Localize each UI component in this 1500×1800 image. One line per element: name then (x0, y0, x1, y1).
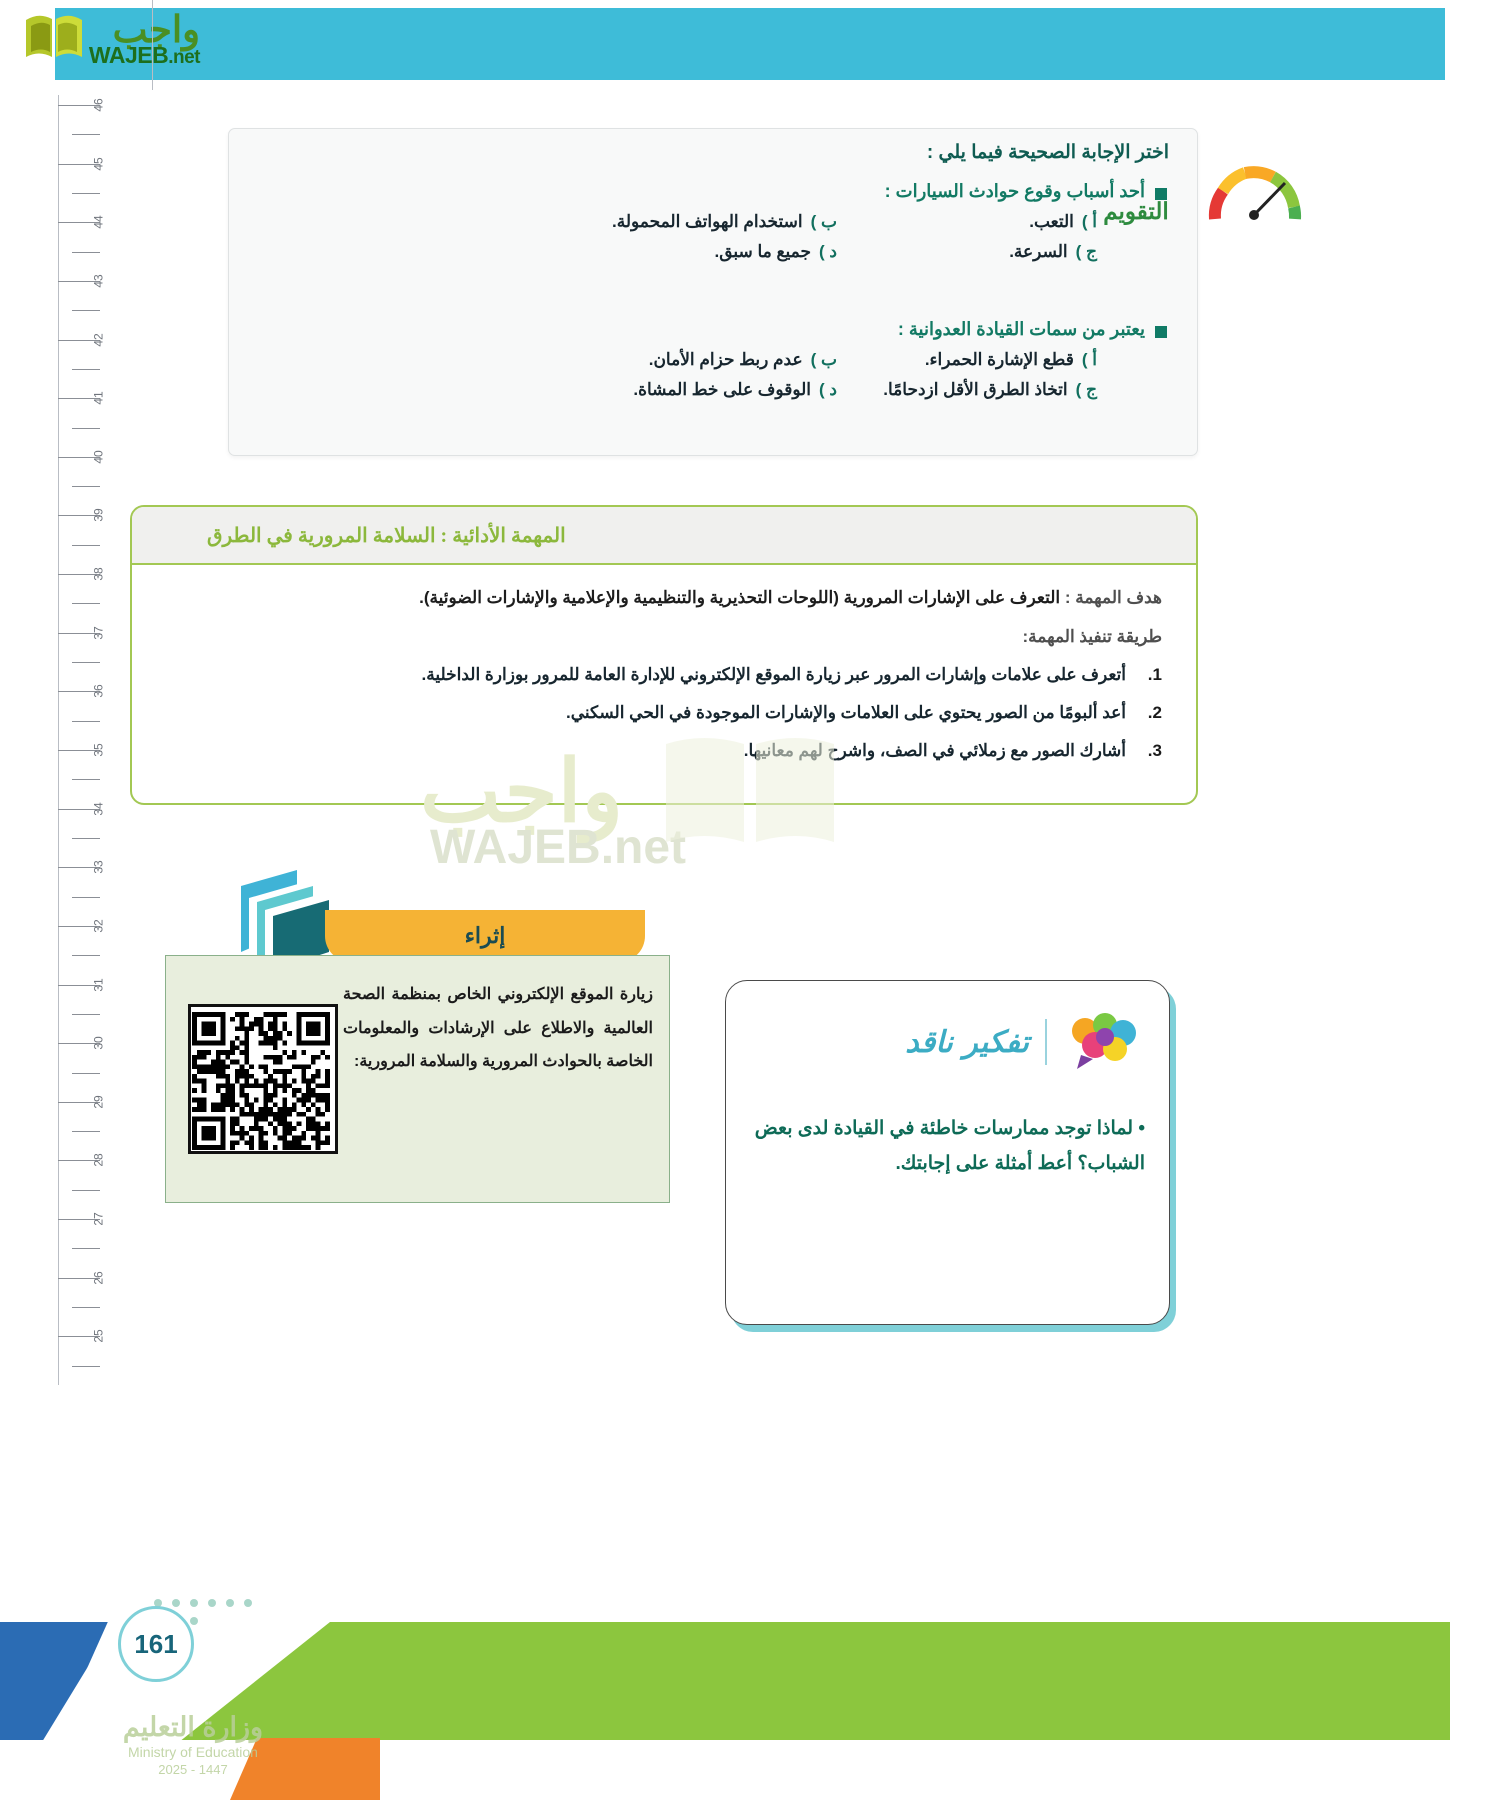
ruler-tick-minor (72, 428, 100, 429)
page-footer: 161 وزارة التعليم Ministry of Education … (0, 1550, 1500, 1800)
ministry-name-arabic: وزارة التعليم (78, 1711, 308, 1745)
ruler-tick-minor (72, 1190, 100, 1191)
option-c-key: ج ) (1076, 380, 1097, 400)
option-a-key: أ ) (1082, 212, 1097, 232)
ruler-tick-label: 36 (92, 685, 106, 698)
ruler-tick-minor (72, 545, 100, 546)
square-bullet-icon (1155, 188, 1167, 200)
ruler-top-guide (152, 0, 153, 90)
ruler-tick-label: 42 (92, 333, 106, 346)
option-b[interactable]: ب ) استخدام الهواتف المحمولة. (357, 212, 837, 232)
question-1: أحد أسباب وقوع حوادث السيارات : أ ) التع… (267, 181, 1167, 262)
ruler-tick-minor (72, 1014, 100, 1015)
ruler-tick-label: 45 (92, 157, 106, 170)
task-goal-line: هدف المهمة : التعرف على الإشارات المروري… (166, 587, 1162, 610)
ruler-tick-label: 27 (92, 1212, 106, 1225)
step-text: أعد ألبومًا من الصور يحتوي على العلامات … (566, 703, 1126, 723)
step-number: 2. (1140, 703, 1162, 723)
option-a-text: قطع الإشارة الحمراء. (925, 350, 1074, 370)
divider (1045, 1019, 1047, 1065)
option-b-key: ب ) (811, 350, 837, 370)
enrichment-tab-label: إثراء (465, 923, 506, 949)
critical-thinking-question: • لماذا توجد ممارسات خاطئة في القيادة لد… (753, 1111, 1145, 1181)
ruler-tick-label: 29 (92, 1095, 106, 1108)
option-c-text: اتخاذ الطرق الأقل ازدحامًا. (883, 380, 1067, 400)
ruler-tick-minor (72, 897, 100, 898)
step-number: 3. (1140, 741, 1162, 761)
option-c[interactable]: ج ) السرعة. (837, 242, 1167, 262)
ruler-tick-label: 26 (92, 1271, 106, 1284)
ruler-tick-minor (72, 369, 100, 370)
ruler-tick-label: 37 (92, 626, 106, 639)
option-b-text: عدم ربط حزام الأمان. (649, 350, 803, 370)
qr-code-icon[interactable] (188, 1004, 338, 1154)
ruler-tick-minor (72, 721, 100, 722)
question-2-stem-row: يعتبر من سمات القيادة العدوانية : (267, 319, 1167, 340)
performance-task-header: المهمة الأدائية : السلامة المرورية في ال… (132, 507, 1196, 565)
ruler-tick-minor (72, 1131, 100, 1132)
ruler-baseline (58, 95, 59, 1385)
option-c-text: السرعة. (1009, 242, 1067, 262)
wajeb-logo: واجب WAJEB.net (10, 8, 200, 70)
ruler-tick-label: 41 (92, 391, 106, 404)
task-goal-label: هدف المهمة : (1065, 588, 1162, 607)
page-header-band (55, 8, 1445, 80)
option-c-key: ج ) (1076, 242, 1097, 262)
option-b-key: ب ) (811, 212, 837, 232)
option-d[interactable]: د ) جميع ما سبق. (357, 242, 837, 262)
ruler-tick-label: 46 (92, 98, 106, 111)
ruler-tick-label: 39 (92, 509, 106, 522)
watermark-book-icon (660, 730, 840, 855)
option-a-text: التعب. (1029, 212, 1074, 232)
critical-thinking-header: تفكير ناقد (905, 1011, 1145, 1073)
enrichment-body: زيارة الموقع الإلكتروني الخاص بمنظمة الص… (165, 955, 670, 1203)
option-d[interactable]: د ) الوقوف على خط المشاة. (357, 380, 837, 400)
ruler-tick-label: 32 (92, 919, 106, 932)
critical-thinking-title: تفكير ناقد (905, 1025, 1029, 1060)
ruler-tick-minor (72, 779, 100, 780)
question-2-options-row-1: أ ) قطع الإشارة الحمراء. ب ) عدم ربط حزا… (267, 350, 1167, 370)
question-1-stem: أحد أسباب وقوع حوادث السيارات : (885, 181, 1145, 202)
ruler-tick-label: 31 (92, 978, 106, 991)
evaluation-title: اختر الإجابة الصحيحة فيما يلي : (927, 141, 1169, 164)
ruler-tick-label: 35 (92, 743, 106, 756)
ruler-tick-minor (72, 1366, 100, 1367)
list-item: 1. أتعرف على علامات وإشارات المرور عبر ز… (166, 665, 1162, 685)
open-book-icon (23, 10, 85, 62)
bullet-icon: • (1138, 1118, 1145, 1139)
option-d-text: جميع ما سبق. (715, 242, 812, 262)
ruler-tick-label: 30 (92, 1036, 106, 1049)
question-2-options-row-2: ج ) اتخاذ الطرق الأقل ازدحامًا. د ) الوق… (267, 380, 1167, 400)
performance-task-title: المهمة الأدائية : السلامة المرورية في ال… (172, 523, 566, 548)
question-1-options-row-1: أ ) التعب. ب ) استخدام الهواتف المحمولة. (267, 212, 1167, 232)
option-a[interactable]: أ ) التعب. (837, 212, 1167, 232)
option-a-key: أ ) (1082, 350, 1097, 370)
enrichment-text: زيارة الموقع الإلكتروني الخاص بمنظمة الص… (343, 978, 653, 1079)
evaluation-box: التقويم اختر الإجابة الصحيحة فيما يلي : … (228, 128, 1198, 456)
ministry-name-english: Ministry of Education (78, 1744, 308, 1762)
ruler-tick-minor (72, 193, 100, 194)
question-2-stem: يعتبر من سمات القيادة العدوانية : (898, 319, 1145, 340)
task-method-label: طريقة تنفيذ المهمة: (1023, 627, 1163, 646)
ruler-tick-minor (72, 310, 100, 311)
ruler-tick-label: 34 (92, 802, 106, 815)
ruler-tick-minor (72, 838, 100, 839)
task-goal-text: التعرف على الإشارات المرورية (اللوحات ال… (419, 588, 1060, 607)
ruler-tick-minor (72, 603, 100, 604)
ruler-tick-label: 33 (92, 861, 106, 874)
ministry-watermark: وزارة التعليم Ministry of Education 2025… (78, 1711, 308, 1779)
ruler-tick-minor (72, 486, 100, 487)
question-1-options-row-2: ج ) السرعة. د ) جميع ما سبق. (267, 242, 1167, 262)
ruler-tick-minor (72, 1307, 100, 1308)
option-b[interactable]: ب ) عدم ربط حزام الأمان. (357, 350, 837, 370)
gauge-icon (1197, 147, 1317, 257)
option-d-text: الوقوف على خط المشاة. (633, 380, 811, 400)
enrichment-section: إثراء زيارة الموقع الإلكتروني الخاص بمنظ… (165, 910, 645, 1220)
option-d-key: د ) (819, 380, 837, 400)
ruler-tick-minor (72, 252, 100, 253)
ruler-tick-label: 43 (92, 274, 106, 287)
ruler-tick-minor (72, 134, 100, 135)
step-number: 1. (1140, 665, 1162, 685)
option-a[interactable]: أ ) قطع الإشارة الحمراء. (837, 350, 1167, 370)
ruler-tick-label: 25 (92, 1330, 106, 1343)
ministry-years: 2025 - 1447 (78, 1762, 308, 1778)
task-method-line: طريقة تنفيذ المهمة: (166, 626, 1162, 649)
ruler-tick-minor (72, 955, 100, 956)
option-d-key: د ) (819, 242, 837, 262)
list-item: 2. أعد ألبومًا من الصور يحتوي على العلام… (166, 703, 1162, 723)
question-2: يعتبر من سمات القيادة العدوانية : أ ) قط… (267, 319, 1167, 400)
page-ruler: 4645444342414039383736353433323130292827… (30, 95, 110, 1385)
critical-thinking-text: لماذا توجد ممارسات خاطئة في القيادة لدى … (755, 1118, 1145, 1174)
ruler-tick-label: 44 (92, 216, 106, 229)
option-c[interactable]: ج ) اتخاذ الطرق الأقل ازدحامًا. (837, 380, 1167, 400)
ruler-tick-minor (72, 1073, 100, 1074)
ruler-tick-label: 28 (92, 1154, 106, 1167)
ruler-tick-label: 40 (92, 450, 106, 463)
square-bullet-icon (1155, 326, 1167, 338)
option-b-text: استخدام الهواتف المحمولة. (612, 212, 803, 232)
page-number: 161 (118, 1606, 194, 1682)
step-text: أتعرف على علامات وإشارات المرور عبر زيار… (422, 665, 1126, 685)
ruler-tick-label: 38 (92, 567, 106, 580)
critical-thinking-box: تفكير ناقد • لماذا توجد ممارسات خاطئة في… (725, 980, 1170, 1325)
ruler-tick-minor (72, 1248, 100, 1249)
brain-icon (1063, 1011, 1145, 1073)
ruler-tick-minor (72, 662, 100, 663)
wajeb-logo-latin: WAJEB.net (89, 44, 200, 67)
watermark-latin: WAJEB.net (430, 820, 686, 875)
question-1-stem-row: أحد أسباب وقوع حوادث السيارات : (267, 181, 1167, 202)
